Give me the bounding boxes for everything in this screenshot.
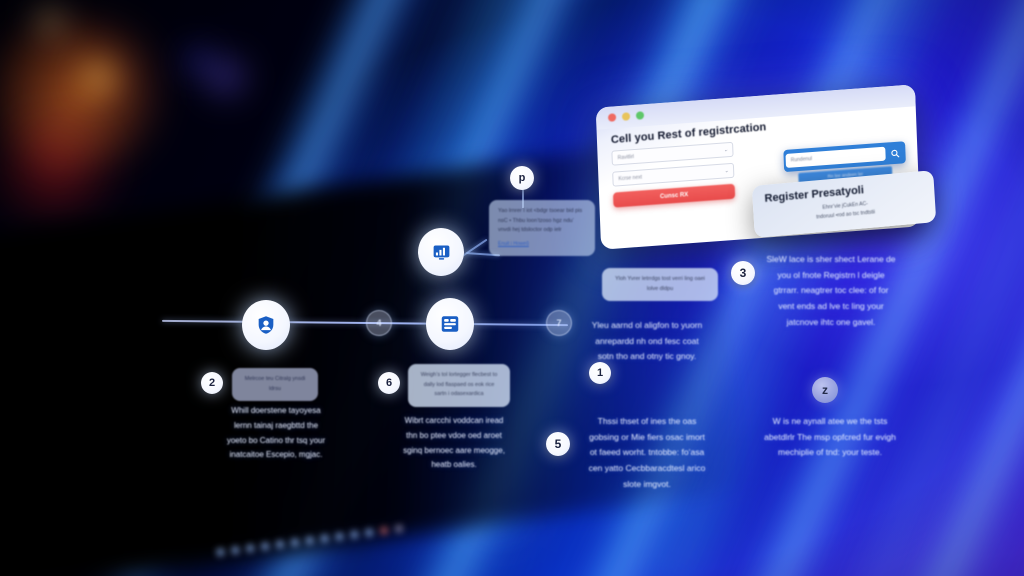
callout-form-body: Wibrt carcchi voddcan iread thn bo ptee … [400, 414, 508, 473]
tooltip-badge[interactable]: p [510, 166, 534, 190]
form-list-icon [439, 313, 461, 335]
callout-welcome-badge[interactable]: 2 [201, 372, 223, 394]
search-input-value: Rundenul [791, 156, 813, 164]
node-account[interactable] [242, 300, 290, 350]
tooltip-top-card[interactable]: Yao lrnrer I iot <bdgr tsoear bid pis ns… [489, 200, 595, 256]
registration-form: Ravitlirl ⌄ Kcrse next ⌄ Cunsc RX [611, 142, 735, 208]
shield-user-icon [255, 314, 277, 336]
callout-form-chip-text: Weigh’s tol lortegger flecbest to dally … [421, 372, 498, 397]
mini-step-2-label: 7 [556, 318, 561, 328]
submit-button[interactable]: Cunsc RX [613, 184, 735, 208]
callout-form-chip[interactable]: Weigh’s tol lortegger flecbest to dally … [408, 364, 510, 407]
first-field-value: Ravitlirl [618, 154, 635, 161]
chevron-down-icon-2[interactable]: ⌄ [724, 167, 729, 174]
node-form[interactable] [426, 298, 474, 350]
callout-right-badge-label: 3 [740, 266, 747, 280]
callout-right-body2: W is ne aynall atee we the tsts abetdlrl… [764, 414, 896, 461]
callout-welcome-chip[interactable]: Melrcoe teu Citralg ynsdi ldrsu [232, 368, 318, 401]
callout-welcome-badge-label: 2 [209, 377, 215, 389]
callout-center-badge[interactable]: 1 [589, 362, 611, 384]
node-report[interactable] [418, 228, 464, 276]
callout-center-body: Yleu aarnd ol aligfon to yuorn anrepardd… [588, 318, 706, 365]
tooltip-badge-label: p [519, 172, 526, 184]
callout-five-badge-label: 5 [555, 437, 562, 451]
tooltip-top-link[interactable]: Enuit i Howeŭ [498, 240, 586, 249]
callout-center-chip[interactable]: Yloh Yvrer letrrdgs tost verri ling oaei… [602, 268, 718, 301]
close-icon[interactable] [608, 113, 616, 122]
zoom-icon[interactable] [636, 111, 644, 120]
mini-step-1[interactable]: 4 [366, 310, 392, 336]
callout-form-badge-label: 6 [386, 377, 392, 389]
screenshot-stage: Cell you Rest of registrcation Ravitlirl… [0, 0, 1024, 576]
callout-right-badge2-label: z [822, 383, 828, 397]
tooltip-top-text2: hej tdsloctor odp ielr [512, 227, 561, 233]
callout-form-badge[interactable]: 6 [378, 372, 400, 394]
mini-step-1-label: 4 [376, 318, 381, 328]
callout-center-badge-label: 1 [597, 367, 603, 379]
first-field[interactable]: Ravitlirl ⌄ [611, 142, 733, 166]
callout-welcome-body: Whill doerstene tayoyesa lernn tainaj ra… [224, 404, 328, 463]
callout-welcome-chip-text: Melrcoe teu Citralg ynsdi ldrsu [245, 376, 306, 392]
second-field-value: Kcrse next [618, 174, 642, 182]
second-field[interactable]: Kcrse next ⌄ [612, 163, 734, 187]
mini-step-2[interactable]: 7 [546, 310, 572, 336]
callout-center-body2: Thssi thset of ines the oas gobsing or M… [586, 414, 708, 493]
callout-right-badge[interactable]: 3 [731, 261, 755, 285]
search-input[interactable]: Rundenul [786, 147, 886, 168]
monitor-chart-icon [431, 242, 452, 263]
minimize-icon[interactable] [622, 112, 630, 121]
callout-five-badge[interactable]: 5 [546, 432, 570, 456]
chevron-down-icon[interactable]: ⌄ [723, 146, 728, 153]
search-icon[interactable] [885, 145, 903, 160]
callout-right-body: SleW lace is sher shect Lerane de you ol… [766, 252, 896, 331]
callout-right-badge2[interactable]: z [812, 377, 838, 403]
callout-center-chip-text: Yloh Yvrer letrrdgs tost verri ling oaei… [615, 276, 705, 292]
